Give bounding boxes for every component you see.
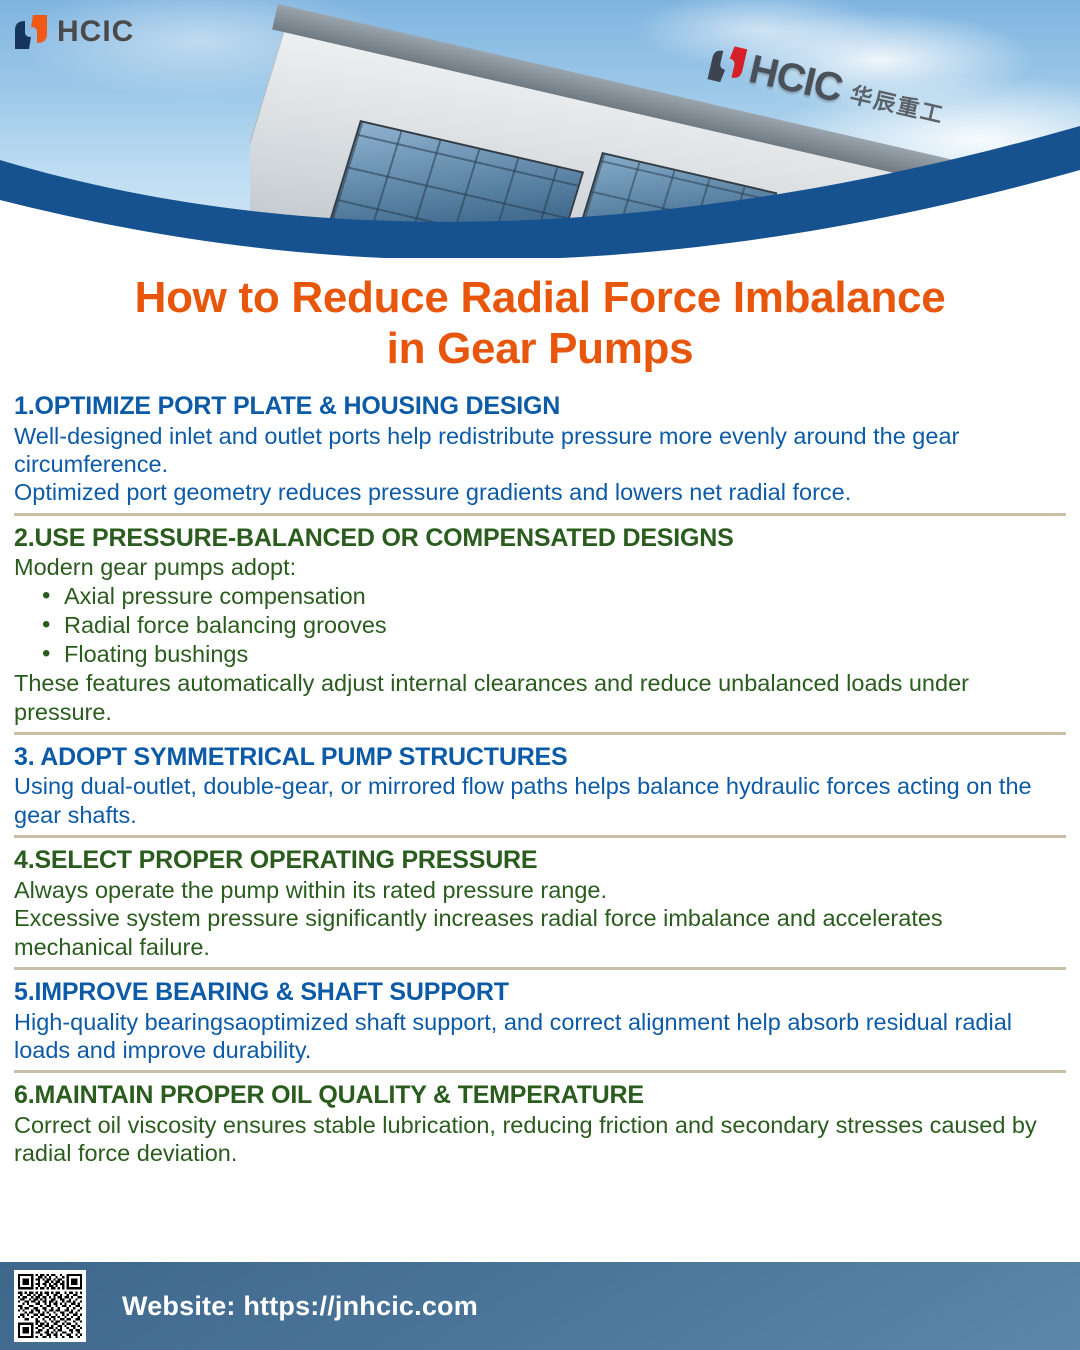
section-1-heading: 1.OPTIMIZE PORT PLATE & HOUSING DESIGN [14, 387, 1066, 422]
section-6-paragraph-1: Correct oil viscosity ensures stable lub… [14, 1111, 1066, 1168]
list-item: Radial force balancing grooves [42, 611, 1066, 640]
page-title-line2: in Gear Pumps [387, 324, 694, 373]
section-3-heading: 3. ADOPT SYMMETRICAL PUMP STRUCTURES [14, 738, 1066, 773]
header-banner: HCIC 华辰重工 HCIC [0, 0, 1080, 258]
page-title: How to Reduce Radial Force Imbalance in … [0, 258, 1080, 384]
website-label[interactable]: Website: https://jnhcic.com [122, 1291, 478, 1322]
section-6-body: Correct oil viscosity ensures stable lub… [14, 1111, 1066, 1168]
section-1-body: Well-designed inlet and outlet ports hel… [14, 422, 1066, 507]
hcic-logo-mark-icon [14, 14, 48, 50]
section-4-body: Always operate the pump within its rated… [14, 876, 1066, 961]
factory-building-photo: HCIC 华辰重工 [250, 0, 1080, 258]
section-2-outro: These features automatically adjust inte… [14, 669, 1066, 726]
section-1-paragraph-1: Well-designed inlet and outlet ports hel… [14, 422, 1066, 479]
section-3-paragraph-1: Using dual-outlet, double-gear, or mirro… [14, 772, 1066, 829]
section-4: 4.SELECT PROPER OPERATING PRESSURE Alway… [14, 835, 1066, 967]
section-4-paragraph-2: Excessive system pressure significantly … [14, 904, 1066, 961]
section-4-paragraph-1: Always operate the pump within its rated… [14, 876, 1066, 904]
section-4-heading: 4.SELECT PROPER OPERATING PRESSURE [14, 841, 1066, 876]
section-2-heading: 2.USE PRESSURE-BALANCED OR COMPENSATED D… [14, 519, 1066, 554]
footer-bar: Website: https://jnhcic.com [0, 1262, 1080, 1350]
section-5-heading: 5.IMPROVE BEARING & SHAFT SUPPORT [14, 973, 1066, 1008]
section-2: 2.USE PRESSURE-BALANCED OR COMPENSATED D… [14, 513, 1066, 732]
section-1: 1.OPTIMIZE PORT PLATE & HOUSING DESIGN W… [14, 384, 1066, 513]
sections-list: 1.OPTIMIZE PORT PLATE & HOUSING DESIGN W… [0, 384, 1080, 1174]
brand-logo-text: HCIC [57, 17, 134, 47]
section-2-body: Modern gear pumps adopt: Axial pressure … [14, 553, 1066, 726]
section-6: 6.MAINTAIN PROPER OIL QUALITY & TEMPERAT… [14, 1070, 1066, 1173]
list-item: Floating bushings [42, 640, 1066, 669]
building-sign-chinese: 华辰重工 [847, 77, 948, 130]
list-item: Axial pressure compensation [42, 582, 1066, 611]
section-5-body: High-quality bearingsaoptimized shaft su… [14, 1008, 1066, 1065]
section-2-intro: Modern gear pumps adopt: [14, 553, 1066, 581]
section-5-paragraph-1: High-quality bearingsaoptimized shaft su… [14, 1008, 1066, 1065]
section-2-bullet-list: Axial pressure compensation Radial force… [14, 582, 1066, 669]
building-sign-text: HCIC [745, 47, 847, 112]
building-logo-mark-icon [706, 40, 748, 87]
section-3: 3. ADOPT SYMMETRICAL PUMP STRUCTURES Usi… [14, 732, 1066, 835]
section-5: 5.IMPROVE BEARING & SHAFT SUPPORT High-q… [14, 967, 1066, 1070]
page-title-line1: How to Reduce Radial Force Imbalance [135, 273, 946, 322]
qr-code-icon[interactable] [14, 1270, 86, 1342]
brand-logo: HCIC [14, 14, 134, 50]
section-1-paragraph-2: Optimized port geometry reduces pressure… [14, 478, 1066, 506]
section-6-heading: 6.MAINTAIN PROPER OIL QUALITY & TEMPERAT… [14, 1076, 1066, 1111]
section-3-body: Using dual-outlet, double-gear, or mirro… [14, 772, 1066, 829]
